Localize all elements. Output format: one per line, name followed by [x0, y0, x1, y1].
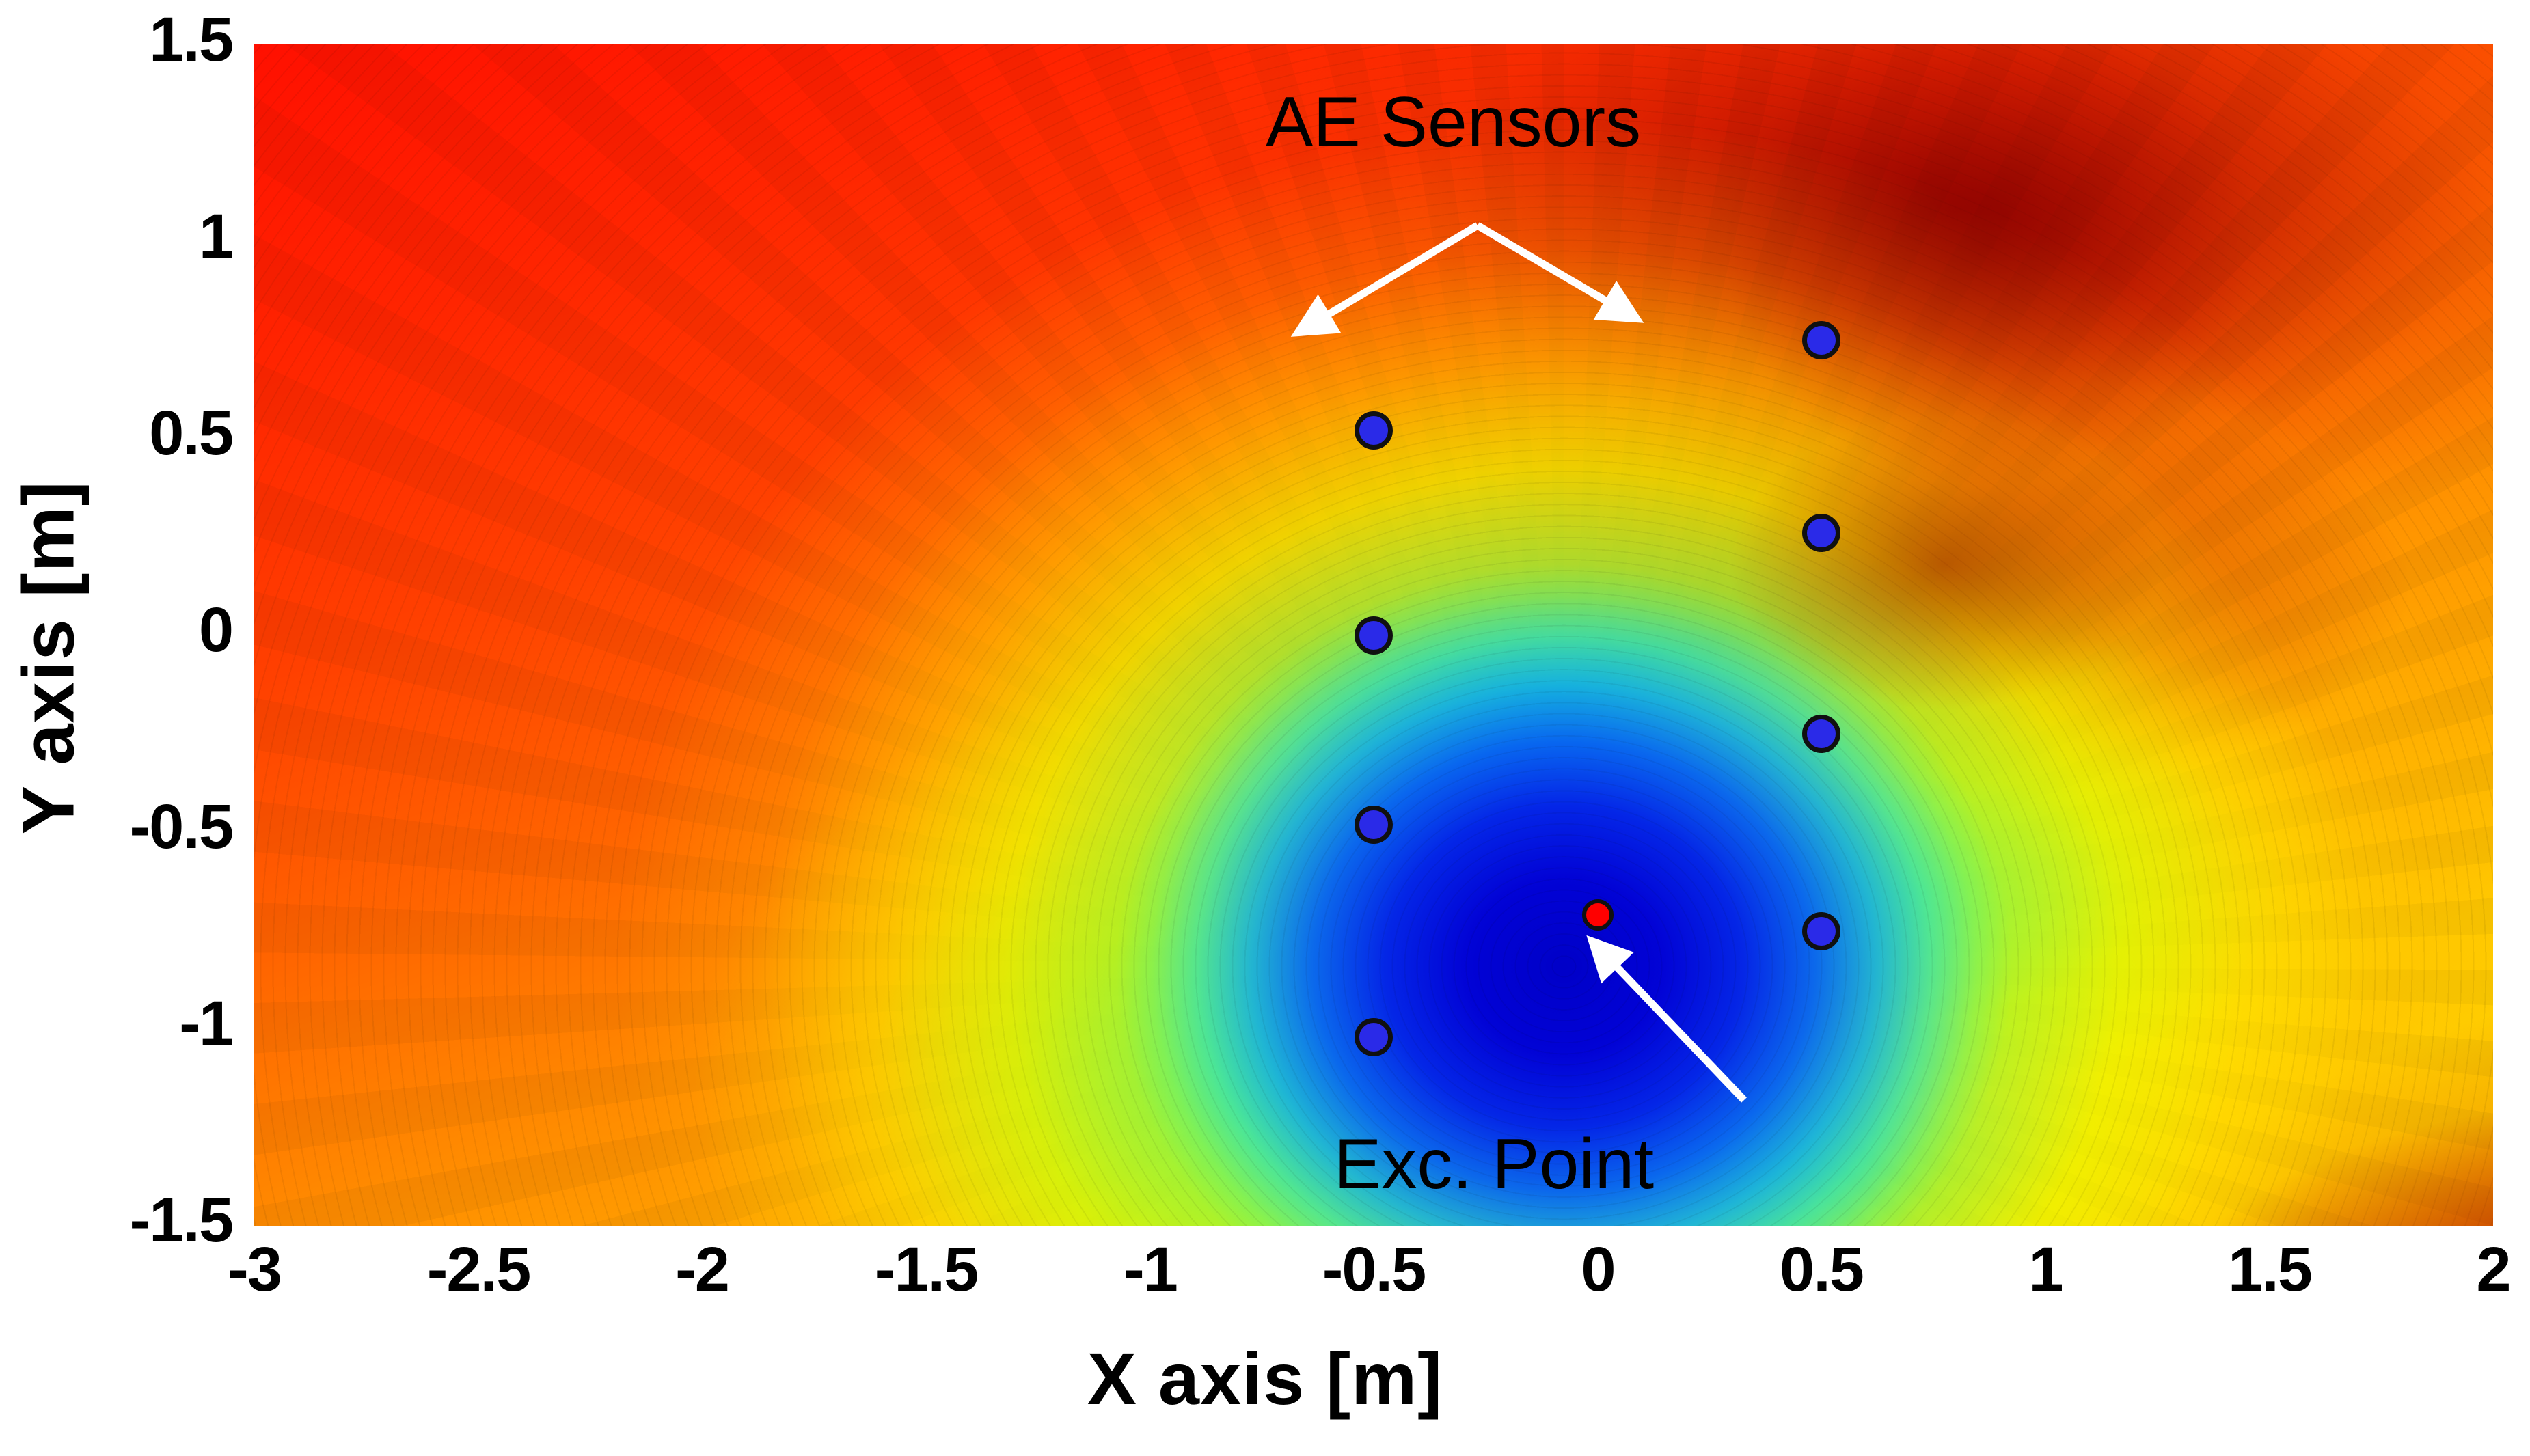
- y-tick-label: 1.5: [62, 4, 232, 76]
- sensor-marker: [1802, 912, 1840, 950]
- x-tick-label: -0.5: [1305, 1234, 1442, 1306]
- x-tick-label: 1: [1977, 1234, 2114, 1306]
- x-tick-label: 0: [1529, 1234, 1666, 1306]
- sensor-marker: [1355, 1018, 1393, 1056]
- sensor-marker: [1802, 321, 1840, 359]
- x-tick-label: -1: [1082, 1234, 1219, 1306]
- plot-area: AE Sensors Exc. Point: [254, 44, 2493, 1226]
- x-tick-label: 2: [2425, 1234, 2530, 1306]
- contour-figure: AE Sensors Exc. Point 1.5 1 0.5 0 -0.5 -…: [0, 0, 2530, 1456]
- x-axis-title: X axis [m]: [0, 1336, 2530, 1421]
- y-tick-label: -1: [62, 988, 232, 1060]
- x-tick-label: -3: [186, 1234, 323, 1306]
- excitation-annotation-label: Exc. Point: [1334, 1124, 1654, 1205]
- x-tick-label: -2.5: [410, 1234, 547, 1306]
- sensor-marker: [1355, 411, 1393, 450]
- x-tick-label: -1.5: [858, 1234, 994, 1306]
- ae-sensors-annotation-label: AE Sensors: [1266, 82, 1641, 163]
- x-tick-label: -2: [634, 1234, 770, 1306]
- sensor-marker: [1355, 806, 1393, 844]
- x-tick-label: 1.5: [2201, 1234, 2338, 1306]
- y-tick-label: 1: [62, 201, 232, 273]
- excitation-point-marker: [1582, 899, 1614, 931]
- sensor-marker: [1802, 715, 1840, 753]
- x-tick-label: 0.5: [1753, 1234, 1890, 1306]
- sensor-marker: [1355, 616, 1393, 655]
- sensor-marker: [1802, 514, 1840, 552]
- y-axis-title: Y axis [m]: [5, 385, 91, 931]
